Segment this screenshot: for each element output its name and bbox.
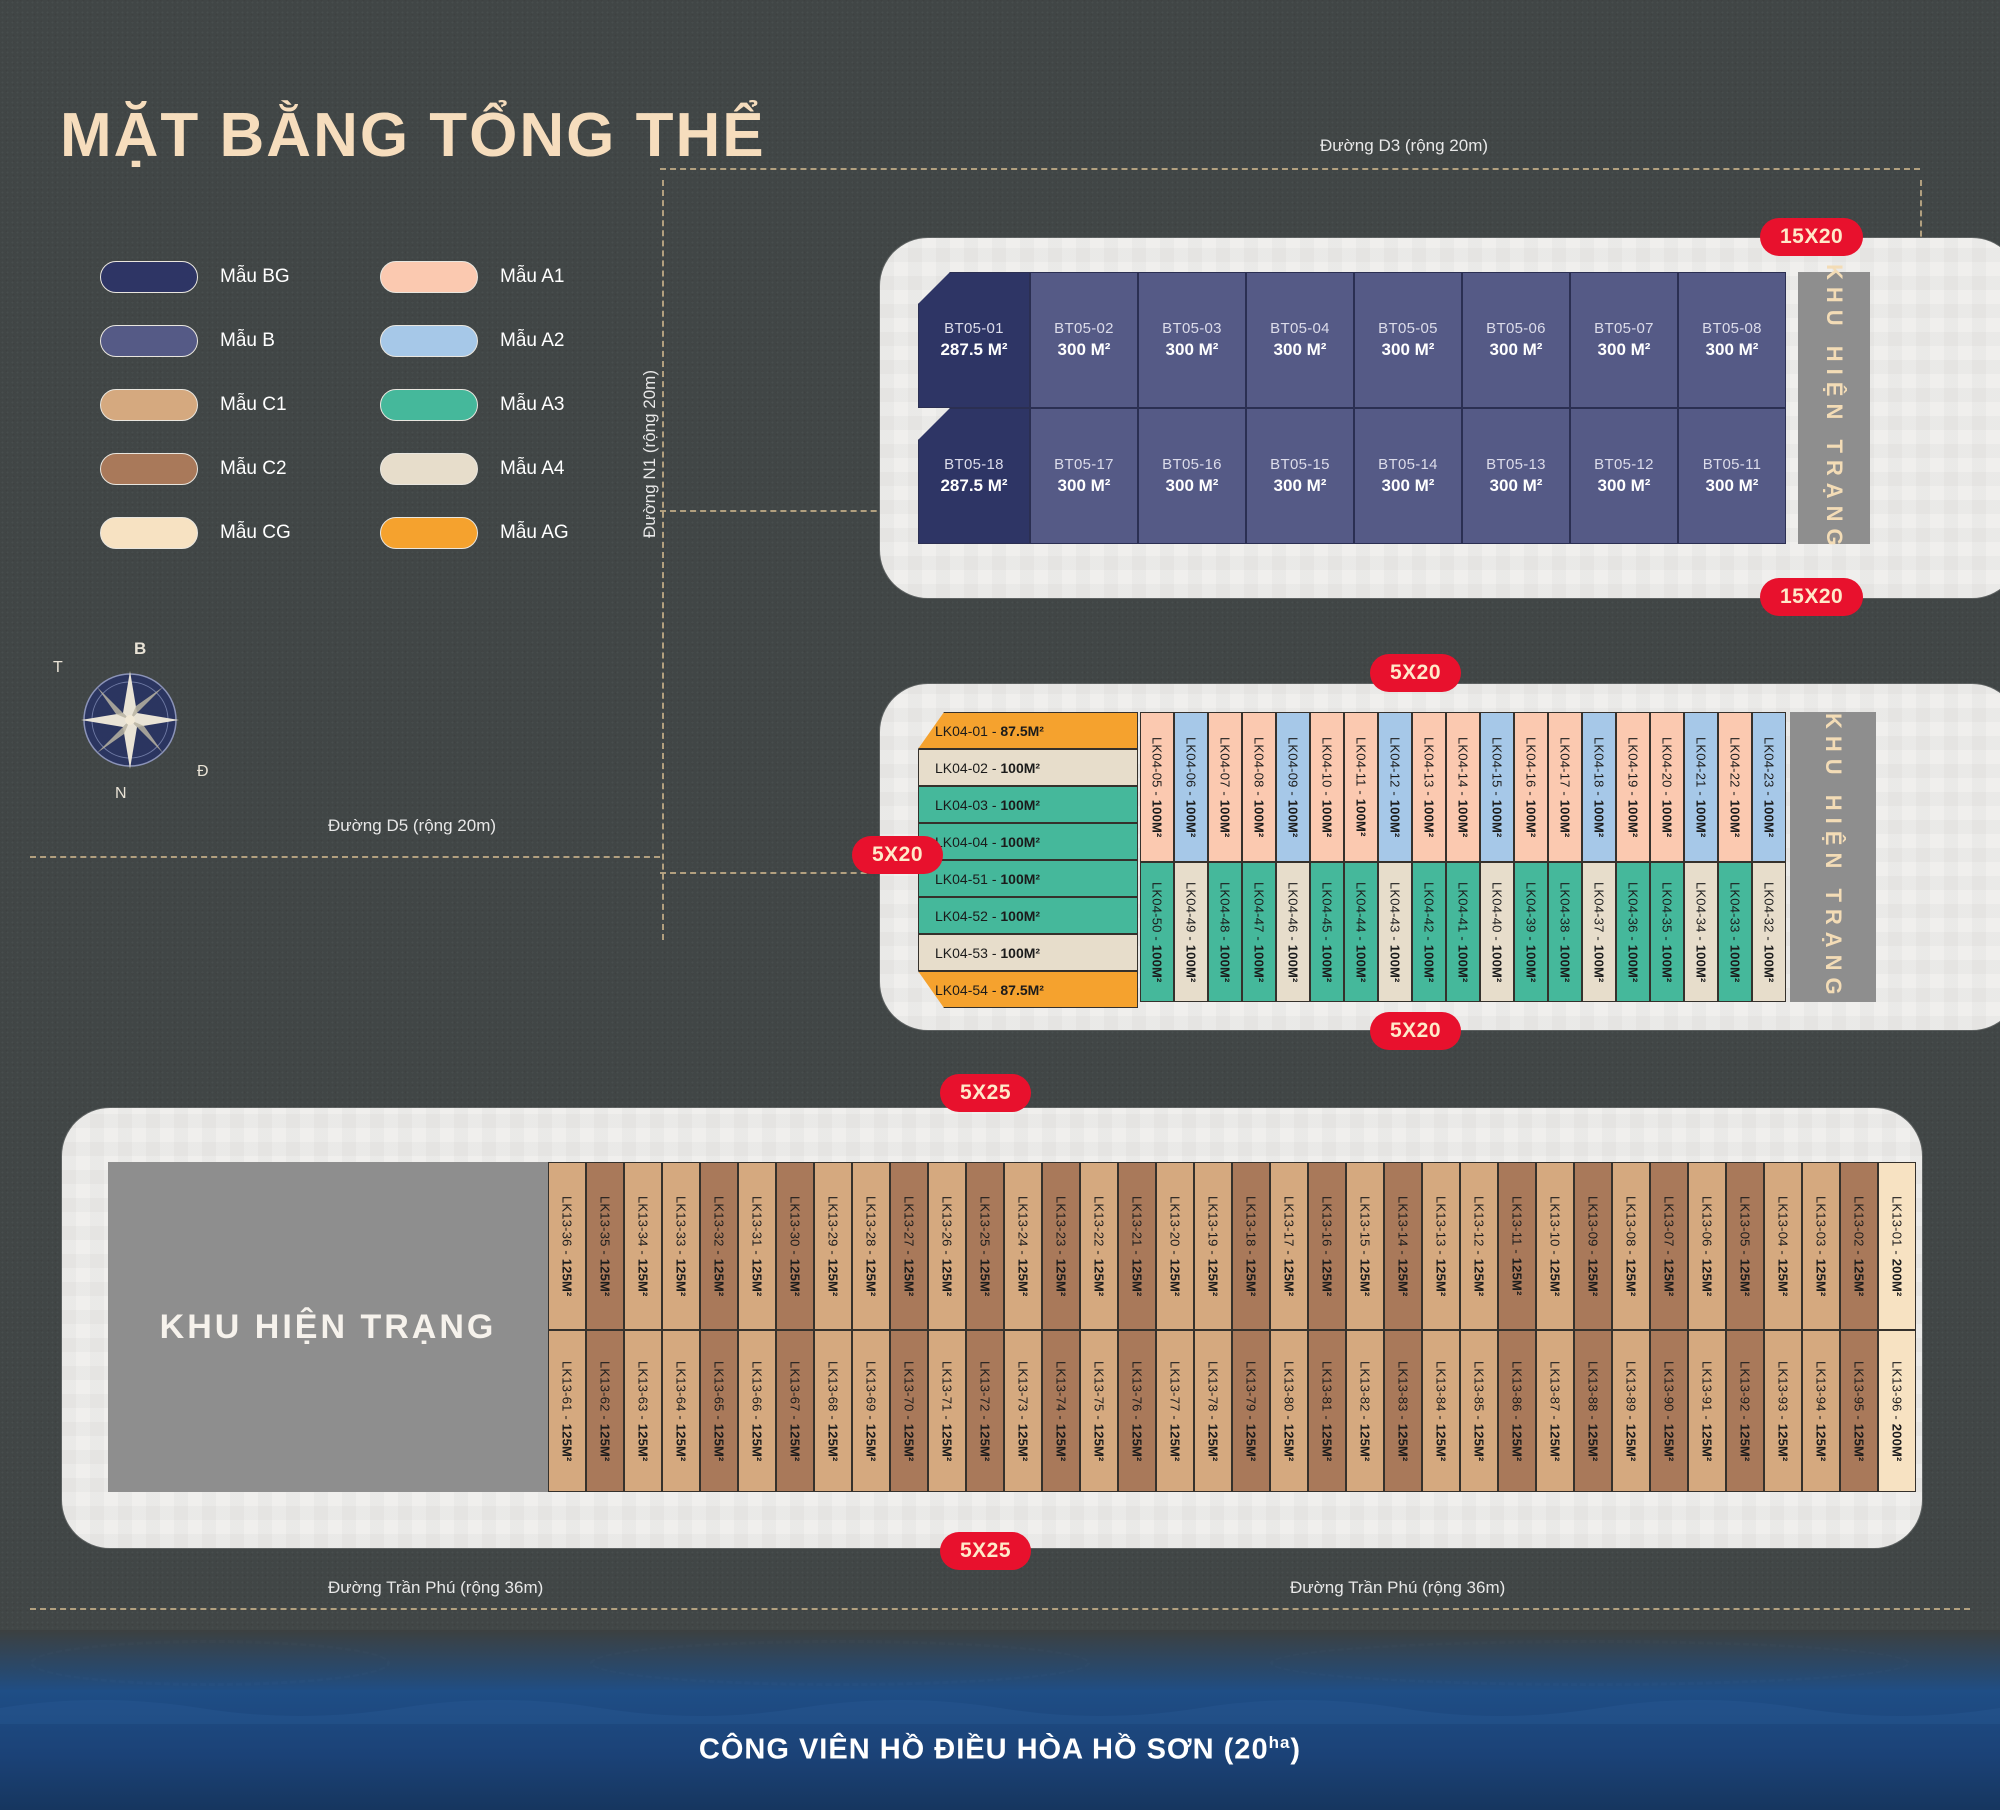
- lk13-lot[interactable]: LK13-69 - 125M²: [852, 1330, 890, 1492]
- lk13-lot[interactable]: LK13-86 - 125M²: [1498, 1330, 1536, 1492]
- lk13-lot-label: LK13-82 - 125M²: [1358, 1361, 1373, 1462]
- lk04-lot-label: LK04-43 - 100M²: [1388, 882, 1403, 983]
- lk13-lot-label: LK13-84 - 125M²: [1434, 1361, 1449, 1462]
- bt05-lot-area: 300 M²: [1058, 476, 1111, 496]
- lk04-lot[interactable]: LK04-17 - 100M²: [1548, 712, 1582, 862]
- bt05-lot-area: 287.5 M²: [940, 340, 1007, 360]
- lk13-lot-label: LK13-81 - 125M²: [1320, 1361, 1335, 1462]
- bt05-lot[interactable]: BT05-14300 M²: [1354, 408, 1462, 544]
- compass-south-label: N: [115, 785, 127, 803]
- lk04-lot[interactable]: LK04-16 - 100M²: [1514, 712, 1548, 862]
- lk13-khu-hien-trang: KHU HIỆN TRẠNG: [108, 1162, 548, 1492]
- bt05-lot[interactable]: BT05-08300 M²: [1678, 272, 1786, 408]
- badge-lk04-left: 5X20: [852, 836, 943, 874]
- bt05-bottom-row: BT05-18287.5 M²BT05-17300 M²BT05-16300 M…: [918, 408, 1786, 544]
- lk13-lot-label: LK13-62 - 125M²: [598, 1361, 613, 1462]
- lk13-lot-label: LK13-73 - 125M²: [1016, 1361, 1031, 1462]
- lk04-lot-label: LK04-10 - 100M²: [1320, 737, 1335, 838]
- wave-icon: [0, 1690, 2000, 1724]
- legend-label: Mẫu AG: [500, 522, 569, 544]
- lk13-lot-label: LK13-03 - 125M²: [1814, 1196, 1829, 1297]
- lk04-lot-label: LK04-22 - 100M²: [1728, 737, 1743, 838]
- footer-unit: ha: [1269, 1733, 1291, 1752]
- lk04-lot-label: LK04-32 - 100M²: [1762, 882, 1777, 983]
- lk13-lot[interactable]: LK13-65 - 125M²: [700, 1330, 738, 1492]
- lk04-lot[interactable]: LK04-40 - 100M²: [1480, 862, 1514, 1002]
- lk13-lot[interactable]: LK13-20 - 125M²: [1156, 1162, 1194, 1330]
- lk13-lot-label: LK13-71 - 125M²: [940, 1361, 955, 1462]
- lk13-lot[interactable]: LK13-92 - 125M²: [1726, 1330, 1764, 1492]
- lk13-lot[interactable]: LK13-63 - 125M²: [624, 1330, 662, 1492]
- lk13-lot-label: LK13-17 - 125M²: [1282, 1196, 1297, 1297]
- lk13-lot-label: LK13-69 - 125M²: [864, 1361, 879, 1462]
- bt05-lot[interactable]: BT05-07300 M²: [1570, 272, 1678, 408]
- lk13-lot-label: LK13-95 - 125M²: [1852, 1361, 1867, 1462]
- page-title: MẶT BẰNG TỔNG THỂ: [60, 100, 766, 171]
- lk04-lot-label: LK04-51 - 100M²: [919, 871, 1040, 887]
- badge-lk04-bottom: 5X20: [1370, 1012, 1461, 1050]
- legend-item-mẫu-a2: Mẫu A2: [380, 309, 569, 373]
- bt05-lot-code: BT05-15: [1270, 456, 1330, 473]
- lk13-lot[interactable]: LK13-87 - 125M²: [1536, 1330, 1574, 1492]
- lk13-lot[interactable]: LK13-06 - 125M²: [1688, 1162, 1726, 1330]
- lk04-lot-label: LK04-14 - 100M²: [1456, 737, 1471, 838]
- bt05-lot-code: BT05-18: [944, 456, 1004, 473]
- lk04-lot[interactable]: LK04-22 - 100M²: [1718, 712, 1752, 862]
- lk04-lot[interactable]: LK04-06 - 100M²: [1174, 712, 1208, 862]
- lk13-lot[interactable]: LK13-77 - 125M²: [1156, 1330, 1194, 1492]
- legend-label: Mẫu CG: [220, 522, 291, 544]
- lk04-lot[interactable]: LK04-52 - 100M²: [918, 897, 1138, 934]
- lk13-lot[interactable]: LK13-95 - 125M²: [1840, 1330, 1878, 1492]
- bt05-lot[interactable]: BT05-12300 M²: [1570, 408, 1678, 544]
- lk04-lot-label: LK04-45 - 100M²: [1320, 882, 1335, 983]
- bt05-lot[interactable]: BT05-02300 M²: [1030, 272, 1138, 408]
- lk13-lot[interactable]: LK13-02 - 125M²: [1840, 1162, 1878, 1330]
- lk13-lot-label: LK13-93 - 125M²: [1776, 1361, 1791, 1462]
- lk04-lot[interactable]: LK04-11 - 100M²: [1344, 712, 1378, 862]
- lk04-lot[interactable]: LK04-10 - 100M²: [1310, 712, 1344, 862]
- bt05-lot-area: 300 M²: [1166, 476, 1219, 496]
- lk13-lot[interactable]: LK13-33 - 125M²: [662, 1162, 700, 1330]
- lk04-lot[interactable]: LK04-07 - 100M²: [1208, 712, 1242, 862]
- lk04-lot-label: LK04-49 - 100M²: [1184, 882, 1199, 983]
- lk13-lot[interactable]: LK13-66 - 125M²: [738, 1330, 776, 1492]
- badge-bt05-top: 15X20: [1760, 218, 1863, 256]
- lk13-lot-label: LK13-85 - 125M²: [1472, 1361, 1487, 1462]
- lk13-lot-label: LK13-10 - 125M²: [1548, 1196, 1563, 1297]
- lk13-lot-label: LK13-16 - 125M²: [1320, 1196, 1335, 1297]
- lk13-lot[interactable]: LK13-70 - 125M²: [890, 1330, 928, 1492]
- bt05-lot[interactable]: BT05-16300 M²: [1138, 408, 1246, 544]
- lk04-lot[interactable]: LK04-01 - 87.5M²: [918, 712, 1138, 749]
- road-label-tran-phu-right: Đường Trần Phú (rộng 36m): [1290, 1578, 1505, 1598]
- lk04-lot-label: LK04-44 - 100M²: [1354, 882, 1369, 983]
- legend-item-mẫu-a4: Mẫu A4: [380, 437, 569, 501]
- lk13-lot-label: LK13-70 - 125M²: [902, 1361, 917, 1462]
- lk13-lot[interactable]: LK13-09 - 125M²: [1574, 1162, 1612, 1330]
- lk04-lot-label: LK04-42 - 100M²: [1422, 882, 1437, 983]
- lk04-lot[interactable]: LK04-44 - 100M²: [1344, 862, 1378, 1002]
- footer-main-text: CÔNG VIÊN HỒ ĐIỀU HÒA HỒ SƠN (20: [699, 1734, 1269, 1766]
- lk04-lot-label: LK04-06 - 100M²: [1184, 737, 1199, 838]
- lk13-lot[interactable]: LK13-25 - 125M²: [966, 1162, 1004, 1330]
- lk04-top-row: LK04-05 - 100M²LK04-06 - 100M²LK04-07 - …: [1140, 712, 1786, 862]
- lk13-lot-label: LK13-18 - 125M²: [1244, 1196, 1259, 1297]
- lk13-lot[interactable]: LK13-21 - 125M²: [1118, 1162, 1156, 1330]
- bt05-lot[interactable]: BT05-01287.5 M²: [918, 272, 1030, 408]
- lk13-lot-label: LK13-23 - 125M²: [1054, 1196, 1069, 1297]
- lk04-lot[interactable]: LK04-21 - 100M²: [1684, 712, 1718, 862]
- lk04-lot[interactable]: LK04-43 - 100M²: [1378, 862, 1412, 1002]
- bt05-lot-area: 300 M²: [1598, 476, 1651, 496]
- lk13-lot-label: LK13-13 - 125M²: [1434, 1196, 1449, 1297]
- lk13-lot[interactable]: LK13-26 - 125M²: [928, 1162, 966, 1330]
- lk13-lot[interactable]: LK13-12 - 125M²: [1460, 1162, 1498, 1330]
- lk13-lot[interactable]: LK13-75 - 125M²: [1080, 1330, 1118, 1492]
- lk04-lot[interactable]: LK04-34 - 100M²: [1684, 862, 1718, 1002]
- lk04-lot-label: LK04-19 - 100M²: [1626, 737, 1641, 838]
- bt05-lot-code: BT05-13: [1486, 456, 1546, 473]
- lk04-lot[interactable]: LK04-19 - 100M²: [1616, 712, 1650, 862]
- lk04-lot-label: LK04-17 - 100M²: [1558, 737, 1573, 838]
- lk13-lot-label: LK13-09 - 125M²: [1586, 1196, 1601, 1297]
- lk04-lot[interactable]: LK04-39 - 100M²: [1514, 862, 1548, 1002]
- legend-swatch: [380, 453, 478, 485]
- lk13-lot-label: LK13-07 - 125M²: [1662, 1196, 1677, 1297]
- lk13-lot[interactable]: LK13-32 - 125M²: [700, 1162, 738, 1330]
- lk04-lot-label: LK04-11 - 100M²: [1354, 737, 1369, 837]
- lk04-lot-label: LK04-12 - 100M²: [1388, 737, 1403, 838]
- lk04-lot[interactable]: LK04-13 - 100M²: [1412, 712, 1446, 862]
- lk04-lot[interactable]: LK04-08 - 100M²: [1242, 712, 1276, 862]
- lk04-lot[interactable]: LK04-05 - 100M²: [1140, 712, 1174, 862]
- lk13-lot[interactable]: LK13-05 - 125M²: [1726, 1162, 1764, 1330]
- legend-item-mẫu-bg: Mẫu BG: [100, 245, 291, 309]
- lk04-lot[interactable]: LK04-51 - 100M²: [918, 860, 1138, 897]
- bt05-lot[interactable]: BT05-18287.5 M²: [918, 408, 1030, 544]
- lk13-lot[interactable]: LK13-91 - 125M²: [1688, 1330, 1726, 1492]
- lk13-lot-label: LK13-27 - 125M²: [902, 1196, 917, 1297]
- lk13-lot-label: LK13-28 - 125M²: [864, 1196, 879, 1297]
- legend-item-mẫu-c1: Mẫu C1: [100, 373, 291, 437]
- bt05-lot-area: 300 M²: [1274, 476, 1327, 496]
- lk13-lot[interactable]: LK13-83 - 125M²: [1384, 1330, 1422, 1492]
- bt05-lot-area: 300 M²: [1706, 476, 1759, 496]
- lk13-lot-label: LK13-22 - 125M²: [1092, 1196, 1107, 1297]
- lk13-lot[interactable]: LK13-80 - 125M²: [1270, 1330, 1308, 1492]
- footer-park-banner: CÔNG VIÊN HỒ ĐIỀU HÒA HỒ SƠN (20ha): [0, 1690, 2000, 1810]
- bt05-top-row: BT05-01287.5 M²BT05-02300 M²BT05-03300 M…: [918, 272, 1786, 408]
- lk04-lot-label: LK04-50 - 100M²: [1150, 882, 1165, 983]
- lk04-lot-label: LK04-15 - 100M²: [1490, 737, 1505, 838]
- lk13-lot[interactable]: LK13-14 - 125M²: [1384, 1162, 1422, 1330]
- footer-text: CÔNG VIÊN HỒ ĐIỀU HÒA HỒ SƠN (20ha): [699, 1733, 1301, 1767]
- lk13-lot[interactable]: LK13-31 - 125M²: [738, 1162, 776, 1330]
- lk13-lot[interactable]: LK13-73 - 125M²: [1004, 1330, 1042, 1492]
- lk13-lot[interactable]: LK13-90 - 125M²: [1650, 1330, 1688, 1492]
- lk04-lot[interactable]: LK04-47 - 100M²: [1242, 862, 1276, 1002]
- lk13-lot-label: LK13-94 - 125M²: [1814, 1361, 1829, 1462]
- road-dash-n1: [662, 180, 664, 940]
- lk04-lot[interactable]: LK04-03 - 100M²: [918, 786, 1138, 823]
- lk04-lot[interactable]: LK04-14 - 100M²: [1446, 712, 1480, 862]
- lk13-lot-label: LK13-75 - 125M²: [1092, 1361, 1107, 1462]
- legend-swatch: [380, 517, 478, 549]
- lk13-lot[interactable]: LK13-72 - 125M²: [966, 1330, 1004, 1492]
- lk13-lot-label: LK13-29 - 125M²: [826, 1196, 841, 1297]
- legend-swatch: [100, 453, 198, 485]
- lk13-lot-label: LK13-91 - 125M²: [1700, 1361, 1715, 1462]
- lk13-lot[interactable]: LK13-11 - 125M²: [1498, 1162, 1536, 1330]
- lk13-lot-label: LK13-26 - 125M²: [940, 1196, 955, 1297]
- legend-swatch: [380, 325, 478, 357]
- bt05-lot-area: 300 M²: [1058, 340, 1111, 360]
- lk13-lot[interactable]: LK13-93 - 125M²: [1764, 1330, 1802, 1492]
- lk04-lot-label: LK04-09 - 100M²: [1286, 737, 1301, 838]
- lk04-lot-label: LK04-08 - 100M²: [1252, 737, 1267, 838]
- lk13-lot[interactable]: LK13-94 - 125M²: [1802, 1330, 1840, 1492]
- lk13-lot-label: LK13-83 - 125M²: [1396, 1361, 1411, 1462]
- bt05-lot[interactable]: BT05-11300 M²: [1678, 408, 1786, 544]
- lk04-lot[interactable]: LK04-35 - 100M²: [1650, 862, 1684, 1002]
- lk04-lot-label: LK04-37 - 100M²: [1592, 882, 1607, 983]
- lk13-lot[interactable]: LK13-04 - 125M²: [1764, 1162, 1802, 1330]
- bt05-lot[interactable]: BT05-05300 M²: [1354, 272, 1462, 408]
- lk04-lot[interactable]: LK04-53 - 100M²: [918, 934, 1138, 971]
- bt05-lot[interactable]: BT05-06300 M²: [1462, 272, 1570, 408]
- lk13-lot[interactable]: LK13-34 - 125M²: [624, 1162, 662, 1330]
- lk04-lot[interactable]: LK04-46 - 100M²: [1276, 862, 1310, 1002]
- lk13-lot[interactable]: LK13-61 - 125M²: [548, 1330, 586, 1492]
- lk13-lot-label: LK13-25 - 125M²: [978, 1196, 993, 1297]
- lk13-lot-label: LK13-06 - 125M²: [1700, 1196, 1715, 1297]
- lk04-lot[interactable]: LK04-41 - 100M²: [1446, 862, 1480, 1002]
- bt05-lot-code: BT05-03: [1162, 320, 1222, 337]
- road-label-n1: Đường N1 (rộng 20m): [640, 370, 660, 538]
- lk13-lot[interactable]: LK13-19 - 125M²: [1194, 1162, 1232, 1330]
- road-dash-d3: [660, 168, 1920, 170]
- lk13-lot-label: LK13-68 - 125M²: [826, 1361, 841, 1462]
- lk13-lot-label: LK13-76 - 125M²: [1130, 1361, 1145, 1462]
- bt05-lot-code: BT05-16: [1162, 456, 1222, 473]
- lk04-bottom-row: LK04-50 - 100M²LK04-49 - 100M²LK04-48 - …: [1140, 862, 1786, 1002]
- lk13-lot-label: LK13-02 - 125M²: [1852, 1196, 1867, 1297]
- legend-swatch: [380, 389, 478, 421]
- lk04-khu-hien-trang: KHU HIỆN TRẠNG: [1790, 712, 1876, 1002]
- lk13-lot-label: LK13-14 - 125M²: [1396, 1196, 1411, 1297]
- bt05-lot[interactable]: BT05-13300 M²: [1462, 408, 1570, 544]
- lk13-lot-label: LK13-92 - 125M²: [1738, 1361, 1753, 1462]
- lk13-lot[interactable]: LK13-03 - 125M²: [1802, 1162, 1840, 1330]
- lk13-lot-label: LK13-89 - 125M²: [1624, 1361, 1639, 1462]
- lk13-lot[interactable]: LK13-89 - 125M²: [1612, 1330, 1650, 1492]
- lk13-lot-label: LK13-21 - 125M²: [1130, 1196, 1145, 1297]
- lk04-lot[interactable]: LK04-36 - 100M²: [1616, 862, 1650, 1002]
- road-label-d3: Đường D3 (rộng 20m): [1320, 136, 1488, 156]
- lk04-lot[interactable]: LK04-32 - 100M²: [1752, 862, 1786, 1002]
- footer-tail: ): [1290, 1734, 1301, 1766]
- lk13-lot-label: LK13-31 - 125M²: [750, 1196, 765, 1297]
- ocean-strip: [0, 1630, 2000, 1690]
- lk04-lot-label: LK04-35 - 100M²: [1660, 882, 1675, 983]
- lk13-lot[interactable]: LK13-29 - 125M²: [814, 1162, 852, 1330]
- lk04-lot[interactable]: LK04-23 - 100M²: [1752, 712, 1786, 862]
- lk04-lot-label: LK04-52 - 100M²: [919, 908, 1040, 924]
- lk04-lot[interactable]: LK04-48 - 100M²: [1208, 862, 1242, 1002]
- lk13-lot[interactable]: LK13-62 - 125M²: [586, 1330, 624, 1492]
- lk13-lot[interactable]: LK13-78 - 125M²: [1194, 1330, 1232, 1492]
- bt05-lot-code: BT05-04: [1270, 320, 1330, 337]
- lk13-lot-label: LK13-90 - 125M²: [1662, 1361, 1677, 1462]
- legend-label: Mẫu A1: [500, 266, 564, 288]
- legend-swatch: [100, 261, 198, 293]
- lk13-lot[interactable]: LK13-08 - 125M²: [1612, 1162, 1650, 1330]
- lk13-lot[interactable]: LK13-30 - 125M²: [776, 1162, 814, 1330]
- lk13-lot-label: LK13-35 - 125M²: [598, 1196, 613, 1297]
- lk04-lot-label: LK04-21 - 100M²: [1694, 737, 1709, 838]
- bt05-lot-area: 300 M²: [1166, 340, 1219, 360]
- lk13-lot[interactable]: LK13-81 - 125M²: [1308, 1330, 1346, 1492]
- lk04-lot[interactable]: LK04-54 - 87.5M²: [918, 971, 1138, 1008]
- lk04-lot[interactable]: LK04-15 - 100M²: [1480, 712, 1514, 862]
- lk13-lot[interactable]: LK13-36 - 125M²: [548, 1162, 586, 1330]
- lk04-lot-label: LK04-39 - 100M²: [1524, 882, 1539, 983]
- lk13-lot[interactable]: LK13-82 - 125M²: [1346, 1330, 1384, 1492]
- lk04-lot[interactable]: LK04-37 - 100M²: [1582, 862, 1616, 1002]
- legend-swatch: [380, 261, 478, 293]
- lk13-lot[interactable]: LK13-07 - 125M²: [1650, 1162, 1688, 1330]
- lk04-lot[interactable]: LK04-42 - 100M²: [1412, 862, 1446, 1002]
- legend-item-mẫu-cg: Mẫu CG: [100, 501, 291, 565]
- bt05-lot[interactable]: BT05-15300 M²: [1246, 408, 1354, 544]
- lk04-lot[interactable]: LK04-04 - 100M²: [918, 823, 1138, 860]
- bt05-khu-hien-trang-label: KHU HIỆN TRẠNG: [1821, 264, 1847, 553]
- lk13-lot[interactable]: LK13-17 - 125M²: [1270, 1162, 1308, 1330]
- lk13-lot[interactable]: LK13-64 - 125M²: [662, 1330, 700, 1492]
- lk13-lot-label: LK13-80 - 125M²: [1282, 1361, 1297, 1462]
- legend-swatch: [100, 389, 198, 421]
- lk13-top-row: LK13-36 - 125M²LK13-35 - 125M²LK13-34 - …: [548, 1162, 1916, 1330]
- road-dash-tran-phu: [30, 1608, 1970, 1610]
- lk13-lot[interactable]: LK13-13 - 125M²: [1422, 1162, 1460, 1330]
- lk13-lot[interactable]: LK13-18 - 125M²: [1232, 1162, 1270, 1330]
- lk13-lot[interactable]: LK13-96 - 200M²: [1878, 1330, 1916, 1492]
- legend-item-mẫu-a1: Mẫu A1: [380, 245, 569, 309]
- legend-label: Mẫu A4: [500, 458, 564, 480]
- bt05-lot[interactable]: BT05-04300 M²: [1246, 272, 1354, 408]
- legend-label: Mẫu C2: [220, 458, 287, 480]
- lk13-lot[interactable]: LK13-16 - 125M²: [1308, 1162, 1346, 1330]
- legend-label: Mẫu A2: [500, 330, 564, 352]
- lk13-lot[interactable]: LK13-27 - 125M²: [890, 1162, 928, 1330]
- road-label-tran-phu-left: Đường Trần Phú (rộng 36m): [328, 1578, 543, 1598]
- bt05-lot[interactable]: BT05-17300 M²: [1030, 408, 1138, 544]
- lk04-lot-label: LK04-40 - 100M²: [1490, 882, 1505, 983]
- lk04-lot[interactable]: LK04-20 - 100M²: [1650, 712, 1684, 862]
- lk13-lot-label: LK13-19 - 125M²: [1206, 1196, 1221, 1297]
- lk13-lot[interactable]: LK13-74 - 125M²: [1042, 1330, 1080, 1492]
- lk13-lot-label: LK13-20 - 125M²: [1168, 1196, 1183, 1297]
- lk04-lot-label: LK04-05 - 100M²: [1150, 737, 1165, 838]
- lk13-lot-label: LK13-87 - 125M²: [1548, 1361, 1563, 1462]
- bt05-lot[interactable]: BT05-03300 M²: [1138, 272, 1246, 408]
- legend-label: Mẫu A3: [500, 394, 564, 416]
- lk13-lot-label: LK13-86 - 125M²: [1510, 1361, 1525, 1462]
- lk04-lot[interactable]: LK04-12 - 100M²: [1378, 712, 1412, 862]
- lk13-lot-label: LK13-01 - 200M²: [1890, 1196, 1905, 1297]
- lk13-lot[interactable]: LK13-01 - 200M²: [1878, 1162, 1916, 1330]
- lk13-lot[interactable]: LK13-28 - 125M²: [852, 1162, 890, 1330]
- badge-lk13-bottom: 5X25: [940, 1532, 1031, 1570]
- lk13-lot[interactable]: LK13-67 - 125M²: [776, 1330, 814, 1492]
- lk04-lot[interactable]: LK04-45 - 100M²: [1310, 862, 1344, 1002]
- compass-north-label: B: [134, 639, 146, 659]
- lk13-lot[interactable]: LK13-15 - 125M²: [1346, 1162, 1384, 1330]
- lk13-lot-label: LK13-77 - 125M²: [1168, 1361, 1183, 1462]
- lk04-lot[interactable]: LK04-38 - 100M²: [1548, 862, 1582, 1002]
- lk13-lot[interactable]: LK13-79 - 125M²: [1232, 1330, 1270, 1492]
- lk13-lot[interactable]: LK13-23 - 125M²: [1042, 1162, 1080, 1330]
- lk13-lot[interactable]: LK13-71 - 125M²: [928, 1330, 966, 1492]
- legend-item-mẫu-c2: Mẫu C2: [100, 437, 291, 501]
- lk13-lot[interactable]: LK13-76 - 125M²: [1118, 1330, 1156, 1492]
- lk04-lot[interactable]: LK04-18 - 100M²: [1582, 712, 1616, 862]
- lk13-lot-label: LK13-79 - 125M²: [1244, 1361, 1259, 1462]
- lk13-lot-label: LK13-63 - 125M²: [636, 1361, 651, 1462]
- lk13-lot[interactable]: LK13-68 - 125M²: [814, 1330, 852, 1492]
- lk13-lot-label: LK13-05 - 125M²: [1738, 1196, 1753, 1297]
- lk13-khu-hien-trang-label: KHU HIỆN TRẠNG: [160, 1308, 497, 1347]
- bt05-lot-area: 300 M²: [1706, 340, 1759, 360]
- lk04-lot-label: LK04-13 - 100M²: [1422, 737, 1437, 838]
- bt05-lot-area: 300 M²: [1274, 340, 1327, 360]
- lk04-lot[interactable]: LK04-33 - 100M²: [1718, 862, 1752, 1002]
- lk13-lot[interactable]: LK13-10 - 125M²: [1536, 1162, 1574, 1330]
- lk13-lot-label: LK13-32 - 125M²: [712, 1196, 727, 1297]
- badge-lk13-top: 5X25: [940, 1074, 1031, 1112]
- lk04-lot-label: LK04-34 - 100M²: [1694, 882, 1709, 983]
- legend-label: Mẫu BG: [220, 266, 290, 288]
- bt05-lot-code: BT05-02: [1054, 320, 1114, 337]
- lk13-lot[interactable]: LK13-22 - 125M²: [1080, 1162, 1118, 1330]
- lk13-lot[interactable]: LK13-84 - 125M²: [1422, 1330, 1460, 1492]
- lk04-lot-label: LK04-16 - 100M²: [1524, 737, 1539, 838]
- lk04-lot-label: LK04-54 - 87.5M²: [919, 982, 1044, 998]
- lk04-lot[interactable]: LK04-09 - 100M²: [1276, 712, 1310, 862]
- bt05-lot-area: 300 M²: [1382, 476, 1435, 496]
- lk13-lot-label: LK13-74 - 125M²: [1054, 1361, 1069, 1462]
- legend-label: Mẫu B: [220, 330, 275, 352]
- compass-west-label: T: [53, 659, 63, 677]
- bt05-lot-code: BT05-05: [1378, 320, 1438, 337]
- lk13-lot-label: LK13-33 - 125M²: [674, 1196, 689, 1297]
- lk13-lot[interactable]: LK13-88 - 125M²: [1574, 1330, 1612, 1492]
- badge-lk04-top: 5X20: [1370, 654, 1461, 692]
- lk04-lot[interactable]: LK04-02 - 100M²: [918, 749, 1138, 786]
- bt05-lot-code: BT05-06: [1486, 320, 1546, 337]
- bt05-lot-area: 287.5 M²: [940, 476, 1007, 496]
- bt05-lot-code: BT05-08: [1702, 320, 1762, 337]
- lk04-lot[interactable]: LK04-50 - 100M²: [1140, 862, 1174, 1002]
- lk13-lot[interactable]: LK13-24 - 125M²: [1004, 1162, 1042, 1330]
- lk04-lot[interactable]: LK04-49 - 100M²: [1174, 862, 1208, 1002]
- lk13-lot[interactable]: LK13-35 - 125M²: [586, 1162, 624, 1330]
- lk04-lot-label: LK04-20 - 100M²: [1660, 737, 1675, 838]
- bt05-lot-area: 300 M²: [1490, 340, 1543, 360]
- bt05-lot-area: 300 M²: [1382, 340, 1435, 360]
- lk13-lot[interactable]: LK13-85 - 125M²: [1460, 1330, 1498, 1492]
